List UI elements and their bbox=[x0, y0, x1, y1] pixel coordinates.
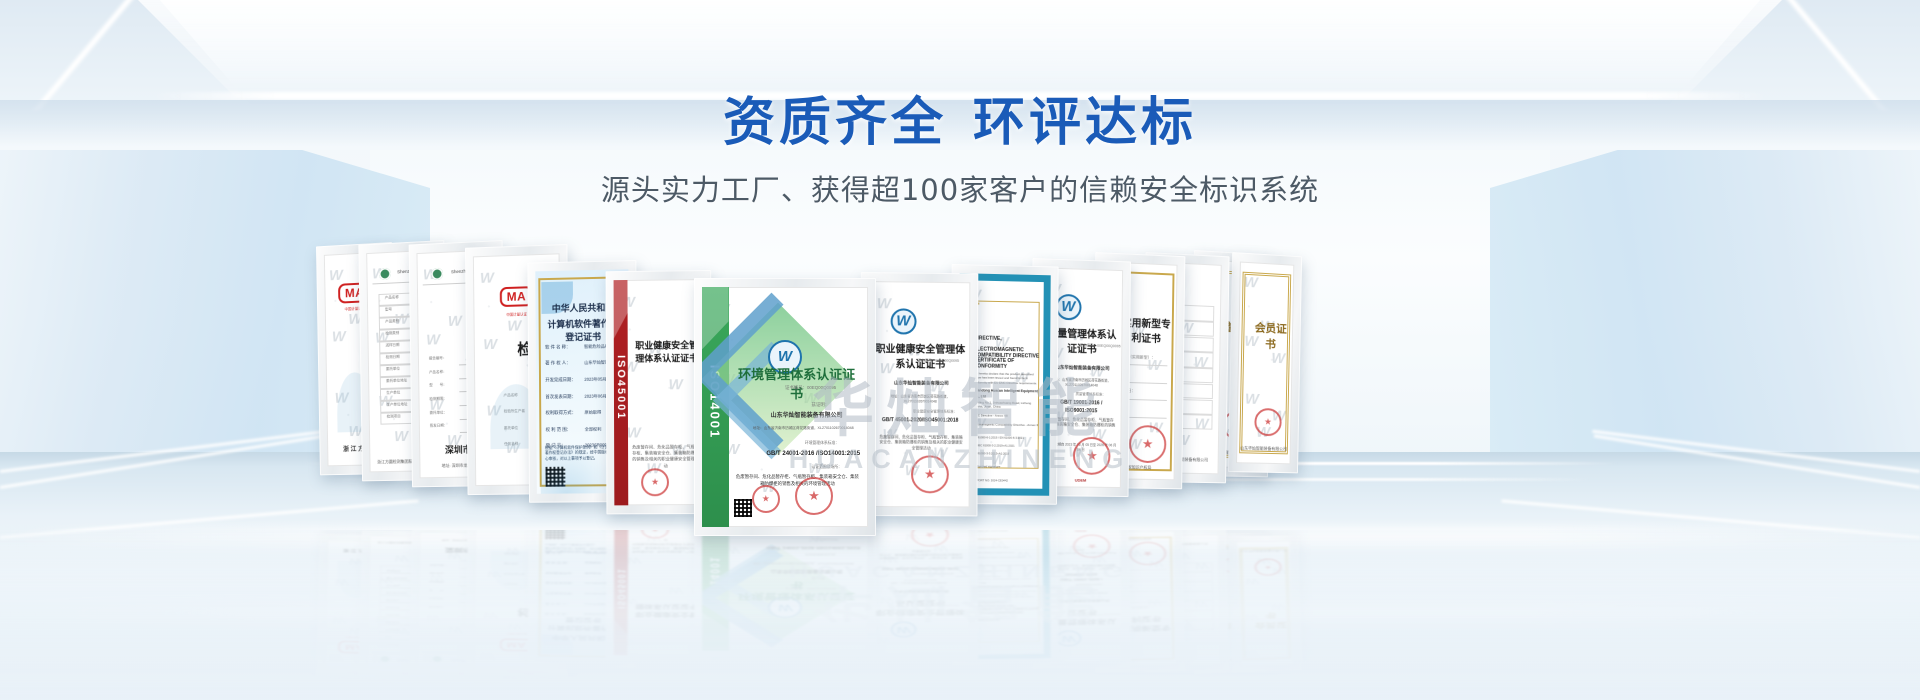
certificate-field-label: 开发完成日期： bbox=[545, 377, 575, 383]
certificate-field-value: 原始取得 bbox=[585, 410, 602, 416]
paper-watermark-w-icon: W bbox=[480, 269, 494, 286]
headline-block: 资质齐全环评达标 源头实力工厂、获得超100家客户的信赖安全标识系统 bbox=[0, 96, 1920, 209]
company-name: 山东华灿智能装备有限公司 bbox=[1048, 364, 1118, 373]
scope-label: 认证范围及场所： bbox=[812, 465, 842, 470]
certification-body-badge-icon bbox=[1055, 294, 1081, 321]
table-row-label: 生产单位 bbox=[386, 390, 400, 395]
official-seal-icon bbox=[1129, 424, 1167, 462]
table-row-label: 产品名称 bbox=[385, 295, 399, 301]
table-row-label: 委托单位地址 bbox=[386, 378, 407, 384]
standard-label: 质量管理体系标准： bbox=[1076, 391, 1106, 397]
certificate-number: 证书编号：00EQ00Q0095 bbox=[1079, 343, 1120, 349]
certificate-field-label: 软 件 名 称： bbox=[545, 344, 570, 350]
page-title: 资质齐全环评达标 bbox=[0, 96, 1920, 151]
certificate-frame[interactable]: WWWWWWW职业健康安全管理体系认证证书证书编号：00EQ00Q0095山东华… bbox=[860, 272, 978, 516]
certificate-field-label: 权利取得方式： bbox=[546, 410, 576, 416]
standard-label: 环境管理体系标准： bbox=[805, 441, 839, 446]
paper-watermark-w-icon: W bbox=[332, 328, 346, 345]
certificate-title: 会员证书 bbox=[1250, 319, 1291, 353]
table-row-label: 产品类别 bbox=[385, 319, 399, 325]
certificate-field-label: 著 作 权 人： bbox=[545, 361, 570, 367]
company-name: 山东华灿智能装备有限公司 bbox=[752, 412, 862, 421]
certificate-field-value: 2023年06月 bbox=[584, 393, 606, 399]
table-row-label: 检测项目 bbox=[387, 414, 401, 419]
certificate-paper: WWWWWWW会员证书山东华灿智能装备有限公司 bbox=[1236, 262, 1294, 465]
certificate-field-label: 首次发表日期： bbox=[545, 394, 575, 400]
title-part-1: 资质齐全 bbox=[723, 93, 947, 153]
certificate-paper: WWWWWWWISO45001职业健康安全管理体系认证证书危废暂存间、危化品暂存… bbox=[614, 279, 704, 505]
ce-clause-1: EMC Directive - Annex VII bbox=[973, 413, 1040, 418]
secondary-seal-icon bbox=[752, 485, 780, 513]
spine-corner-icon bbox=[614, 280, 628, 339]
certificate-field-label: 检测期限： bbox=[429, 396, 447, 401]
certificate-title: 职业健康安全管理体系认证证书 bbox=[875, 340, 966, 371]
certificate-field-label: 权 利 范 围： bbox=[546, 427, 571, 433]
certificate-field-label: 报告编号： bbox=[429, 356, 447, 362]
certificate-footer: 山东华灿智能装备有限公司 bbox=[1240, 445, 1288, 452]
table-row-label: 型号 bbox=[385, 307, 392, 312]
certification-body-badge-icon bbox=[890, 308, 916, 334]
ce-standard: EN 61000-3-3:2013+A1:2019 bbox=[973, 451, 1040, 456]
table-row-label: 生产单位地址 bbox=[386, 402, 407, 408]
certificate-scope: 危废暂存间、危化品暂存柜、气瓶暂存柜、集装箱安全仓、集装箱防爆柜的销售及相关的职… bbox=[878, 435, 963, 453]
certificate-field-label: 委托单位： bbox=[430, 410, 448, 415]
table-row-label: 送样日期 bbox=[386, 343, 400, 348]
title-part-2: 环评达标 bbox=[973, 93, 1197, 153]
paper-watermark-w-icon: W bbox=[329, 267, 343, 285]
ce-standard: EN 61000-6-1:2019 / EN 61000-6-3:2021 bbox=[973, 435, 1040, 440]
agency-emblem-icon bbox=[379, 267, 391, 279]
paper-watermark-w-icon: W bbox=[448, 312, 462, 329]
table-row-label: 检测日期 bbox=[386, 355, 400, 360]
ce-title-line3: CERTIFICATE OF CONFORMITY bbox=[974, 358, 1042, 371]
certificate-field-value: 全部权利 bbox=[585, 426, 602, 432]
page-subtitle: 源头实力工厂、获得超100家客户的信赖安全标识系统 bbox=[0, 167, 1920, 209]
certificate-field-label: 产品名称： bbox=[429, 369, 447, 374]
certificate-frame[interactable]: WWWWWWW会员证书山东华灿智能装备有限公司 bbox=[1228, 252, 1302, 473]
paper-watermark-w-icon: W bbox=[507, 317, 521, 334]
table-row-label: 检测类别 bbox=[385, 331, 399, 337]
certificate-scope: 危废暂存间、危化品暂存柜、气瓶暂存柜、集装箱安全仓、集装箱防爆柜的销售及相关的职… bbox=[632, 444, 699, 470]
iso45001-spine: ISO45001 bbox=[614, 280, 629, 505]
ce-company-address: Building No.1, Jinhuachuang Road, Lichen… bbox=[973, 400, 1040, 410]
certificate-gallery: WWWWWWWMA中国计量认证浙 江 方 圆WWWWWWWShenzhenTES… bbox=[0, 230, 1920, 530]
company-address: 地址：山东省济南市历城区荷花路街道，XL2701102670014048 bbox=[877, 394, 964, 405]
certificate-paper: WWWWWWWISO14001环境管理体系认证证书证书编号：00EQ00Q009… bbox=[702, 287, 868, 527]
certificate-field-label: 签发日期： bbox=[430, 424, 448, 429]
ce-clause-2: Electromagnetic Compatibility Directive … bbox=[973, 422, 1040, 427]
ce-company-name: Shandong Huacan Intelligent Equipment Co… bbox=[973, 389, 1040, 400]
ce-standard: EN IEC 61000-3-2:2019+A1:2021 bbox=[973, 443, 1040, 448]
paper-watermark-w-icon: W bbox=[627, 424, 641, 441]
certificate-number: 证书编号：00EQ00Q0095 bbox=[785, 385, 836, 391]
banner-stage: 资质齐全环评达标 源头实力工厂、获得超100家客户的信赖安全标识系统 WWWWW… bbox=[0, 0, 1920, 700]
ce-report-no: REPORT NO: 2024-CE0442 bbox=[973, 478, 1040, 483]
certificate-title: 职业健康安全管理体系认证证书 bbox=[633, 338, 699, 365]
paper-watermark-w-icon: W bbox=[394, 428, 408, 445]
ce-body-text: We hereby declare that the product descr… bbox=[973, 371, 1041, 386]
qr-code-icon bbox=[734, 499, 752, 517]
official-seal-icon bbox=[1073, 437, 1111, 475]
certificate-paper: WWWWWWW职业健康安全管理体系认证证书证书编号：00EQ00Q0095山东华… bbox=[868, 281, 970, 507]
paper-watermark-w-icon: W bbox=[668, 376, 682, 393]
floor-reflection: WWWWWWWMA中国计量认证浙 江 方 圆WWWWWWWShenzhenTES… bbox=[0, 530, 1920, 700]
ma-logo-sublabel: 中国计量认证 bbox=[506, 312, 527, 318]
official-seal-icon bbox=[641, 468, 669, 496]
ce-title-line1: DIRECTIVE, bbox=[974, 336, 1041, 343]
reflection-fade bbox=[0, 530, 1920, 700]
agency-emblem-icon bbox=[431, 268, 443, 280]
official-seal-icon bbox=[911, 456, 949, 494]
company-name: 山东华灿智能装备有限公司 bbox=[879, 381, 964, 389]
certificate-field-label: 型 号： bbox=[429, 383, 447, 388]
standard-value: GB/T 45001-2020/ISO45001:2018 bbox=[876, 417, 963, 425]
certificate-number: 证书编号：00EQ00Q0095 bbox=[917, 358, 959, 363]
company-label: 兹证明： bbox=[812, 402, 830, 408]
certificate-frame[interactable]: WWWWWWWISO14001环境管理体系认证证书证书编号：00EQ00Q009… bbox=[694, 278, 876, 536]
ceiling-glow bbox=[108, 0, 1812, 98]
paper-watermark-w-icon: W bbox=[426, 331, 440, 348]
standard-value: GB/T 24001-2016 /ISO14001:2015 bbox=[765, 450, 861, 459]
certificate-title: 环境管理体系认证证书 bbox=[732, 364, 862, 402]
official-seal-icon bbox=[795, 477, 833, 515]
standard-label: 职业健康安全管理体系标准： bbox=[913, 408, 957, 413]
official-seal-icon bbox=[1254, 408, 1282, 437]
table-row-label: 委托单位 bbox=[386, 366, 400, 371]
certificate-field-value: 2023年05月 bbox=[584, 377, 606, 383]
ce-signer: Authorized signature bbox=[973, 464, 1040, 469]
paper-watermark-w-icon: W bbox=[877, 295, 891, 312]
company-address: 地址：山东省济南市历城区荷花路街道，XL2701102670014048 bbox=[745, 426, 861, 431]
iso45001-spine-text: ISO45001 bbox=[615, 355, 627, 420]
